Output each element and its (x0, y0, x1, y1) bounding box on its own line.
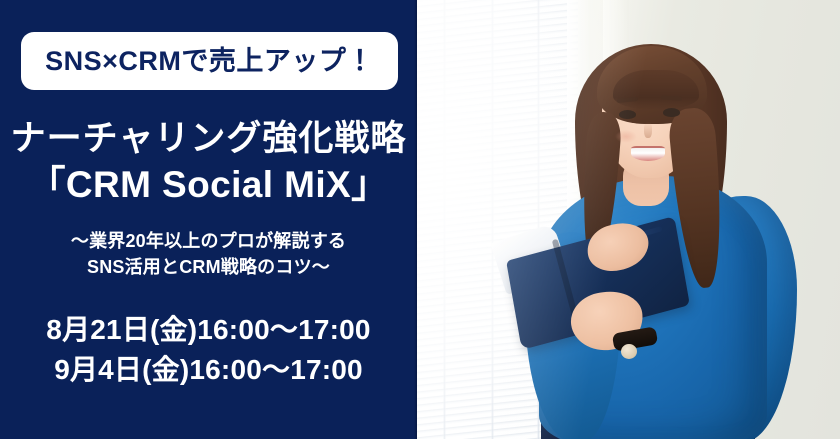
headline-line-2: 「CRM Social MiX」 (0, 162, 417, 207)
webinar-banner: SNS×CRMで売上アップ！ ナーチャリング強化戦略 「CRM Social M… (0, 0, 840, 439)
navy-text-panel: SNS×CRMで売上アップ！ ナーチャリング強化戦略 「CRM Social M… (0, 0, 417, 439)
schedule-date-2: 9月4日(金)16:00〜17:00 (0, 350, 417, 390)
subtitle-block: 〜業界20年以上のプロが解説する SNS活用とCRM戦略のコツ〜 (0, 228, 417, 280)
eye-left (619, 110, 636, 119)
presenter-photo (417, 0, 840, 439)
smiling-mouth (631, 146, 665, 161)
hair-fringe (613, 70, 699, 110)
schedule-block: 8月21日(金)16:00〜17:00 9月4日(金)16:00〜17:00 (0, 310, 417, 390)
wristwatch-face (621, 344, 637, 359)
woman-figure (417, 0, 840, 439)
subtitle-line-1: 〜業界20年以上のプロが解説する (0, 228, 417, 254)
headline-line-1: ナーチャリング強化戦略 (0, 118, 417, 160)
headline-block: ナーチャリング強化戦略 「CRM Social MiX」 (0, 118, 417, 207)
cheek (615, 130, 637, 143)
tagline-badge-text: SNS×CRMで売上アップ！ (45, 48, 374, 75)
subtitle-line-2: SNS活用とCRM戦略のコツ〜 (0, 254, 417, 280)
eye-right (663, 108, 680, 117)
nose (644, 122, 652, 138)
tagline-badge: SNS×CRMで売上アップ！ (21, 32, 398, 90)
schedule-date-1: 8月21日(金)16:00〜17:00 (0, 310, 417, 350)
